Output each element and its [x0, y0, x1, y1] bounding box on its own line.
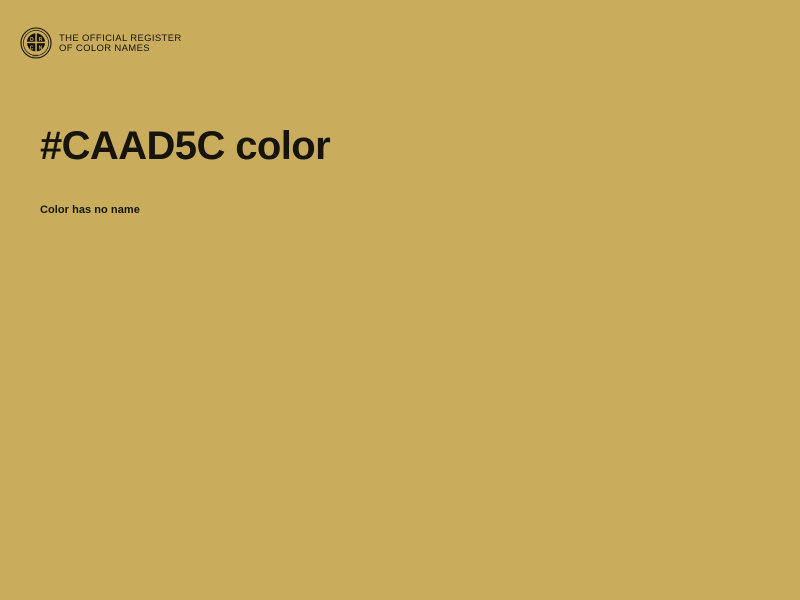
wordmark-line-2: OF COLOR NAMES [59, 44, 182, 54]
svg-text:C: C [30, 45, 34, 51]
wordmark: THE OFFICIAL REGISTER OF COLOR NAMES [59, 33, 182, 54]
masthead[interactable]: O R C N EST. THE OFFICIAL REGISTER OF CO… [20, 27, 182, 59]
color-page: O R C N EST. THE OFFICIAL REGISTER OF CO… [0, 0, 800, 600]
svg-text:R: R [39, 37, 43, 43]
svg-text:N: N [39, 45, 43, 51]
main-content: #CAAD5C color Color has no name [40, 120, 760, 217]
svg-text:EST.: EST. [32, 53, 40, 58]
color-name-status: Color has no name [40, 172, 760, 217]
svg-text:O: O [30, 37, 34, 43]
wordmark-line-1: THE OFFICIAL REGISTER [59, 34, 182, 44]
register-seal-icon: O R C N EST. [20, 27, 52, 59]
page-title: #CAAD5C color [40, 120, 760, 172]
